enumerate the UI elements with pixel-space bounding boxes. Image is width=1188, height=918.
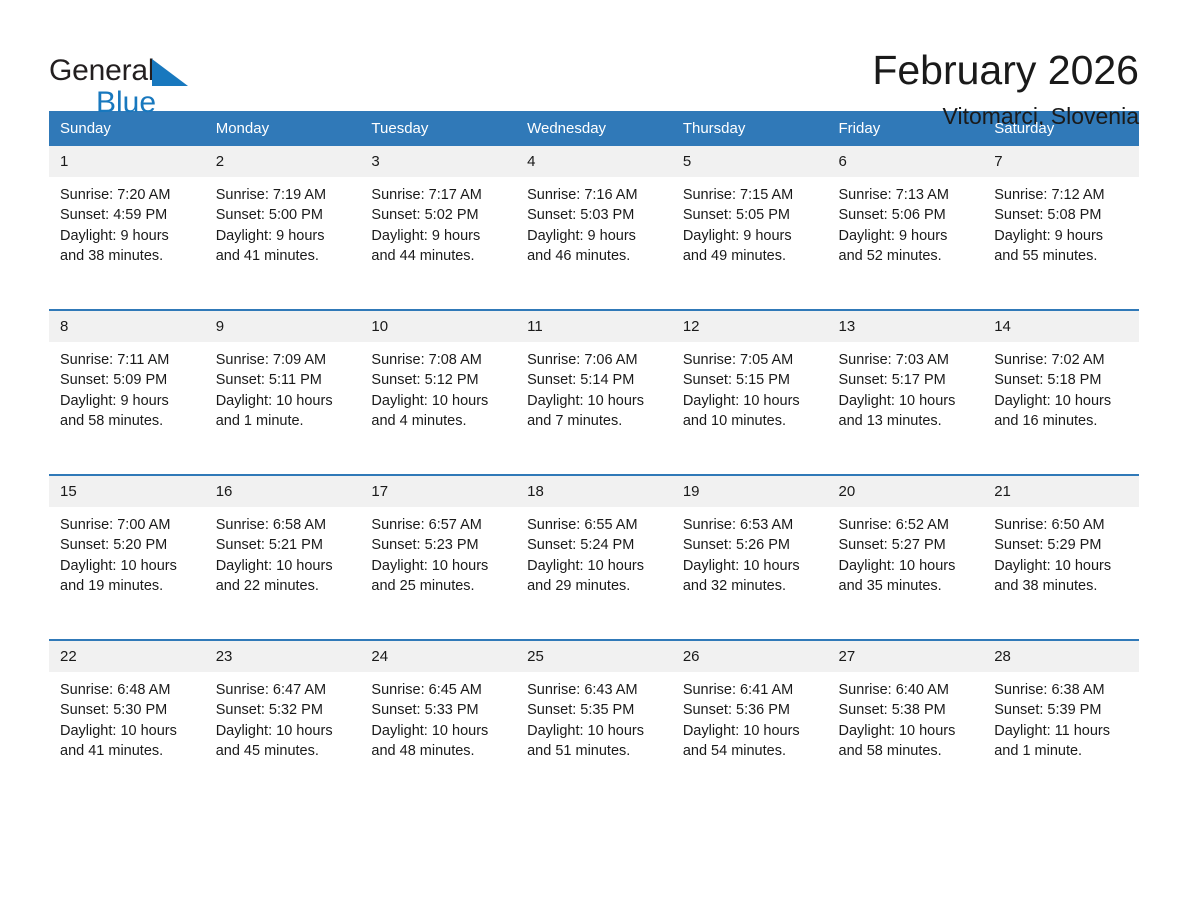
daylight-text-line1: Daylight: 10 hours: [371, 721, 508, 741]
day-details: Sunrise: 6:52 AM Sunset: 5:27 PM Dayligh…: [828, 507, 984, 596]
daylight-text-line2: and 29 minutes.: [527, 576, 664, 596]
day-number: 26: [672, 641, 828, 672]
title-block: February 2026 Vitomarci, Slovenia: [872, 47, 1139, 130]
sunrise-text: Sunrise: 6:45 AM: [371, 680, 508, 700]
sunrise-text: Sunrise: 7:03 AM: [839, 350, 976, 370]
daylight-text-line1: Daylight: 10 hours: [683, 556, 820, 576]
day-cell[interactable]: 11 Sunrise: 7:06 AM Sunset: 5:14 PM Dayl…: [516, 310, 672, 475]
day-details: Sunrise: 6:53 AM Sunset: 5:26 PM Dayligh…: [672, 507, 828, 596]
daylight-text-line1: Daylight: 10 hours: [839, 721, 976, 741]
day-cell[interactable]: 2 Sunrise: 7:19 AM Sunset: 5:00 PM Dayli…: [205, 146, 361, 310]
daylight-text-line2: and 58 minutes.: [60, 411, 197, 431]
daylight-text-line2: and 7 minutes.: [527, 411, 664, 431]
day-number: 28: [983, 641, 1139, 672]
page-title: February 2026: [872, 47, 1139, 93]
day-cell[interactable]: 8 Sunrise: 7:11 AM Sunset: 5:09 PM Dayli…: [49, 310, 205, 475]
calendar-body: 1 Sunrise: 7:20 AM Sunset: 4:59 PM Dayli…: [49, 146, 1139, 804]
daylight-text-line1: Daylight: 9 hours: [839, 226, 976, 246]
sunrise-text: Sunrise: 7:05 AM: [683, 350, 820, 370]
day-cell[interactable]: 17 Sunrise: 6:57 AM Sunset: 5:23 PM Dayl…: [360, 475, 516, 640]
sunrise-text: Sunrise: 6:47 AM: [216, 680, 353, 700]
day-details: Sunrise: 6:45 AM Sunset: 5:33 PM Dayligh…: [360, 672, 516, 761]
day-number: 13: [828, 311, 984, 342]
daylight-text-line1: Daylight: 9 hours: [683, 226, 820, 246]
day-details: Sunrise: 7:08 AM Sunset: 5:12 PM Dayligh…: [360, 342, 516, 431]
daylight-text-line1: Daylight: 10 hours: [527, 391, 664, 411]
daylight-text-line1: Daylight: 10 hours: [216, 556, 353, 576]
sunrise-text: Sunrise: 6:52 AM: [839, 515, 976, 535]
day-number: 4: [516, 146, 672, 177]
sunset-text: Sunset: 5:20 PM: [60, 535, 197, 555]
sunset-text: Sunset: 5:06 PM: [839, 205, 976, 225]
sunset-text: Sunset: 5:32 PM: [216, 700, 353, 720]
sunset-text: Sunset: 5:00 PM: [216, 205, 353, 225]
sunrise-text: Sunrise: 6:57 AM: [371, 515, 508, 535]
sunset-text: Sunset: 5:27 PM: [839, 535, 976, 555]
day-cell[interactable]: 27 Sunrise: 6:40 AM Sunset: 5:38 PM Dayl…: [828, 640, 984, 804]
day-number: 24: [360, 641, 516, 672]
sunset-text: Sunset: 5:15 PM: [683, 370, 820, 390]
day-number: 2: [205, 146, 361, 177]
day-number: 9: [205, 311, 361, 342]
daylight-text-line1: Daylight: 10 hours: [994, 556, 1131, 576]
sunrise-text: Sunrise: 7:11 AM: [60, 350, 197, 370]
sunrise-text: Sunrise: 7:00 AM: [60, 515, 197, 535]
sunset-text: Sunset: 5:23 PM: [371, 535, 508, 555]
daylight-text-line2: and 25 minutes.: [371, 576, 508, 596]
daylight-text-line2: and 38 minutes.: [60, 246, 197, 266]
day-details: Sunrise: 6:38 AM Sunset: 5:39 PM Dayligh…: [983, 672, 1139, 761]
daylight-text-line2: and 55 minutes.: [994, 246, 1131, 266]
day-cell[interactable]: 24 Sunrise: 6:45 AM Sunset: 5:33 PM Dayl…: [360, 640, 516, 804]
day-number: 23: [205, 641, 361, 672]
daylight-text-line1: Daylight: 9 hours: [527, 226, 664, 246]
daylight-text-line2: and 51 minutes.: [527, 741, 664, 761]
calendar-week-row: 8 Sunrise: 7:11 AM Sunset: 5:09 PM Dayli…: [49, 310, 1139, 475]
daylight-text-line1: Daylight: 10 hours: [683, 391, 820, 411]
day-number: 10: [360, 311, 516, 342]
day-cell[interactable]: 12 Sunrise: 7:05 AM Sunset: 5:15 PM Dayl…: [672, 310, 828, 475]
sunrise-text: Sunrise: 6:55 AM: [527, 515, 664, 535]
sunset-text: Sunset: 5:12 PM: [371, 370, 508, 390]
day-cell[interactable]: 20 Sunrise: 6:52 AM Sunset: 5:27 PM Dayl…: [828, 475, 984, 640]
daylight-text-line2: and 45 minutes.: [216, 741, 353, 761]
day-details: Sunrise: 6:58 AM Sunset: 5:21 PM Dayligh…: [205, 507, 361, 596]
day-details: Sunrise: 6:55 AM Sunset: 5:24 PM Dayligh…: [516, 507, 672, 596]
day-number: 15: [49, 476, 205, 507]
day-number: 25: [516, 641, 672, 672]
sunset-text: Sunset: 5:05 PM: [683, 205, 820, 225]
sunset-text: Sunset: 4:59 PM: [60, 205, 197, 225]
day-cell[interactable]: 22 Sunrise: 6:48 AM Sunset: 5:30 PM Dayl…: [49, 640, 205, 804]
day-cell[interactable]: 4 Sunrise: 7:16 AM Sunset: 5:03 PM Dayli…: [516, 146, 672, 310]
daylight-text-line2: and 58 minutes.: [839, 741, 976, 761]
sunrise-text: Sunrise: 7:16 AM: [527, 185, 664, 205]
day-number: 17: [360, 476, 516, 507]
day-details: Sunrise: 7:20 AM Sunset: 4:59 PM Dayligh…: [49, 177, 205, 266]
day-cell[interactable]: 13 Sunrise: 7:03 AM Sunset: 5:17 PM Dayl…: [828, 310, 984, 475]
sunset-text: Sunset: 5:30 PM: [60, 700, 197, 720]
weekday-header-tuesday: Tuesday: [360, 111, 516, 146]
sunrise-text: Sunrise: 7:02 AM: [994, 350, 1131, 370]
day-details: Sunrise: 7:03 AM Sunset: 5:17 PM Dayligh…: [828, 342, 984, 431]
sunset-text: Sunset: 5:14 PM: [527, 370, 664, 390]
daylight-text-line1: Daylight: 10 hours: [527, 721, 664, 741]
daylight-text-line1: Daylight: 10 hours: [839, 391, 976, 411]
daylight-text-line2: and 1 minute.: [994, 741, 1131, 761]
daylight-text-line2: and 54 minutes.: [683, 741, 820, 761]
generalblue-logo[interactable]: General Blue: [49, 47, 209, 118]
daylight-text-line2: and 52 minutes.: [839, 246, 976, 266]
day-number: 3: [360, 146, 516, 177]
daylight-text-line2: and 32 minutes.: [683, 576, 820, 596]
day-cell[interactable]: 16 Sunrise: 6:58 AM Sunset: 5:21 PM Dayl…: [205, 475, 361, 640]
day-number: 18: [516, 476, 672, 507]
sunset-text: Sunset: 5:03 PM: [527, 205, 664, 225]
calendar-week-row: 15 Sunrise: 7:00 AM Sunset: 5:20 PM Dayl…: [49, 475, 1139, 640]
day-details: Sunrise: 6:50 AM Sunset: 5:29 PM Dayligh…: [983, 507, 1139, 596]
day-number: 12: [672, 311, 828, 342]
day-details: Sunrise: 7:16 AM Sunset: 5:03 PM Dayligh…: [516, 177, 672, 266]
sunset-text: Sunset: 5:11 PM: [216, 370, 353, 390]
day-cell[interactable]: 19 Sunrise: 6:53 AM Sunset: 5:26 PM Dayl…: [672, 475, 828, 640]
daylight-text-line1: Daylight: 11 hours: [994, 721, 1131, 741]
daylight-text-line2: and 41 minutes.: [60, 741, 197, 761]
day-details: Sunrise: 7:13 AM Sunset: 5:06 PM Dayligh…: [828, 177, 984, 266]
day-number: 8: [49, 311, 205, 342]
day-cell[interactable]: 26 Sunrise: 6:41 AM Sunset: 5:36 PM Dayl…: [672, 640, 828, 804]
sunrise-text: Sunrise: 6:48 AM: [60, 680, 197, 700]
day-details: Sunrise: 7:09 AM Sunset: 5:11 PM Dayligh…: [205, 342, 361, 431]
sunrise-text: Sunrise: 6:41 AM: [683, 680, 820, 700]
day-cell[interactable]: 15 Sunrise: 7:00 AM Sunset: 5:20 PM Dayl…: [49, 475, 205, 640]
sunrise-text: Sunrise: 7:06 AM: [527, 350, 664, 370]
daylight-text-line2: and 48 minutes.: [371, 741, 508, 761]
day-cell[interactable]: 28 Sunrise: 6:38 AM Sunset: 5:39 PM Dayl…: [983, 640, 1139, 804]
day-number: 22: [49, 641, 205, 672]
calendar-page: General Blue February 2026 Vitomarci, Sl…: [0, 0, 1188, 918]
day-number: 27: [828, 641, 984, 672]
sunrise-text: Sunrise: 7:09 AM: [216, 350, 353, 370]
daylight-text-line2: and 19 minutes.: [60, 576, 197, 596]
day-details: Sunrise: 6:48 AM Sunset: 5:30 PM Dayligh…: [49, 672, 205, 761]
day-cell[interactable]: 23 Sunrise: 6:47 AM Sunset: 5:32 PM Dayl…: [205, 640, 361, 804]
sunrise-text: Sunrise: 7:20 AM: [60, 185, 197, 205]
daylight-text-line2: and 41 minutes.: [216, 246, 353, 266]
day-details: Sunrise: 7:15 AM Sunset: 5:05 PM Dayligh…: [672, 177, 828, 266]
day-cell[interactable]: 6 Sunrise: 7:13 AM Sunset: 5:06 PM Dayli…: [828, 146, 984, 310]
day-details: Sunrise: 7:02 AM Sunset: 5:18 PM Dayligh…: [983, 342, 1139, 431]
sunrise-text: Sunrise: 7:12 AM: [994, 185, 1131, 205]
daylight-text-line2: and 16 minutes.: [994, 411, 1131, 431]
calendar-week-row: 22 Sunrise: 6:48 AM Sunset: 5:30 PM Dayl…: [49, 640, 1139, 804]
daylight-text-line2: and 49 minutes.: [683, 246, 820, 266]
day-number: 19: [672, 476, 828, 507]
logo-triangle-icon: [152, 59, 188, 86]
day-details: Sunrise: 6:41 AM Sunset: 5:36 PM Dayligh…: [672, 672, 828, 761]
day-details: Sunrise: 6:57 AM Sunset: 5:23 PM Dayligh…: [360, 507, 516, 596]
day-cell[interactable]: 18 Sunrise: 6:55 AM Sunset: 5:24 PM Dayl…: [516, 475, 672, 640]
sunset-text: Sunset: 5:17 PM: [839, 370, 976, 390]
day-cell[interactable]: 5 Sunrise: 7:15 AM Sunset: 5:05 PM Dayli…: [672, 146, 828, 310]
sunset-text: Sunset: 5:08 PM: [994, 205, 1131, 225]
weekday-header-monday: Monday: [205, 111, 361, 146]
sunset-text: Sunset: 5:26 PM: [683, 535, 820, 555]
day-cell[interactable]: 7 Sunrise: 7:12 AM Sunset: 5:08 PM Dayli…: [983, 146, 1139, 310]
sunrise-text: Sunrise: 6:40 AM: [839, 680, 976, 700]
daylight-text-line1: Daylight: 10 hours: [994, 391, 1131, 411]
day-cell[interactable]: 3 Sunrise: 7:17 AM Sunset: 5:02 PM Dayli…: [360, 146, 516, 310]
daylight-text-line1: Daylight: 10 hours: [216, 721, 353, 741]
daylight-text-line2: and 22 minutes.: [216, 576, 353, 596]
daylight-text-line1: Daylight: 9 hours: [216, 226, 353, 246]
sunset-text: Sunset: 5:35 PM: [527, 700, 664, 720]
daylight-text-line1: Daylight: 9 hours: [994, 226, 1131, 246]
day-details: Sunrise: 7:17 AM Sunset: 5:02 PM Dayligh…: [360, 177, 516, 266]
day-details: Sunrise: 6:43 AM Sunset: 5:35 PM Dayligh…: [516, 672, 672, 761]
daylight-text-line2: and 46 minutes.: [527, 246, 664, 266]
day-cell[interactable]: 9 Sunrise: 7:09 AM Sunset: 5:11 PM Dayli…: [205, 310, 361, 475]
daylight-text-line2: and 44 minutes.: [371, 246, 508, 266]
sunset-text: Sunset: 5:38 PM: [839, 700, 976, 720]
daylight-text-line1: Daylight: 10 hours: [839, 556, 976, 576]
sunset-text: Sunset: 5:24 PM: [527, 535, 664, 555]
daylight-text-line1: Daylight: 10 hours: [683, 721, 820, 741]
sunrise-text: Sunrise: 7:08 AM: [371, 350, 508, 370]
weekday-header-wednesday: Wednesday: [516, 111, 672, 146]
weekday-header-thursday: Thursday: [672, 111, 828, 146]
page-masthead: General Blue February 2026 Vitomarci, Sl…: [49, 0, 1139, 105]
sunrise-text: Sunrise: 6:43 AM: [527, 680, 664, 700]
sunrise-text: Sunrise: 6:50 AM: [994, 515, 1131, 535]
daylight-text-line1: Daylight: 10 hours: [371, 391, 508, 411]
daylight-text-line2: and 35 minutes.: [839, 576, 976, 596]
day-number: 20: [828, 476, 984, 507]
sunset-text: Sunset: 5:09 PM: [60, 370, 197, 390]
day-number: 16: [205, 476, 361, 507]
sunset-text: Sunset: 5:36 PM: [683, 700, 820, 720]
sunrise-text: Sunrise: 7:15 AM: [683, 185, 820, 205]
day-number: 7: [983, 146, 1139, 177]
daylight-text-line2: and 4 minutes.: [371, 411, 508, 431]
sunset-text: Sunset: 5:33 PM: [371, 700, 508, 720]
day-number: 14: [983, 311, 1139, 342]
day-cell[interactable]: 25 Sunrise: 6:43 AM Sunset: 5:35 PM Dayl…: [516, 640, 672, 804]
day-cell[interactable]: 10 Sunrise: 7:08 AM Sunset: 5:12 PM Dayl…: [360, 310, 516, 475]
daylight-text-line1: Daylight: 10 hours: [216, 391, 353, 411]
day-cell[interactable]: 14 Sunrise: 7:02 AM Sunset: 5:18 PM Dayl…: [983, 310, 1139, 475]
daylight-text-line1: Daylight: 9 hours: [60, 391, 197, 411]
daylight-text-line1: Daylight: 10 hours: [371, 556, 508, 576]
day-details: Sunrise: 7:06 AM Sunset: 5:14 PM Dayligh…: [516, 342, 672, 431]
daylight-text-line2: and 10 minutes.: [683, 411, 820, 431]
sunrise-text: Sunrise: 6:38 AM: [994, 680, 1131, 700]
day-cell[interactable]: 1 Sunrise: 7:20 AM Sunset: 4:59 PM Dayli…: [49, 146, 205, 310]
sunrise-text: Sunrise: 6:53 AM: [683, 515, 820, 535]
daylight-text-line2: and 1 minute.: [216, 411, 353, 431]
sunrise-text: Sunrise: 7:19 AM: [216, 185, 353, 205]
day-details: Sunrise: 7:00 AM Sunset: 5:20 PM Dayligh…: [49, 507, 205, 596]
sunset-text: Sunset: 5:39 PM: [994, 700, 1131, 720]
daylight-text-line1: Daylight: 10 hours: [60, 721, 197, 741]
sunset-text: Sunset: 5:02 PM: [371, 205, 508, 225]
day-details: Sunrise: 7:05 AM Sunset: 5:15 PM Dayligh…: [672, 342, 828, 431]
sunset-text: Sunset: 5:21 PM: [216, 535, 353, 555]
daylight-text-line1: Daylight: 9 hours: [371, 226, 508, 246]
day-details: Sunrise: 7:11 AM Sunset: 5:09 PM Dayligh…: [49, 342, 205, 431]
daylight-text-line1: Daylight: 9 hours: [60, 226, 197, 246]
day-cell[interactable]: 21 Sunrise: 6:50 AM Sunset: 5:29 PM Dayl…: [983, 475, 1139, 640]
calendar-week-row: 1 Sunrise: 7:20 AM Sunset: 4:59 PM Dayli…: [49, 146, 1139, 310]
daylight-text-line2: and 13 minutes.: [839, 411, 976, 431]
daylight-text-line1: Daylight: 10 hours: [527, 556, 664, 576]
sunrise-text: Sunrise: 7:13 AM: [839, 185, 976, 205]
sunset-text: Sunset: 5:18 PM: [994, 370, 1131, 390]
daylight-text-line1: Daylight: 10 hours: [60, 556, 197, 576]
day-number: 6: [828, 146, 984, 177]
daylight-text-line2: and 38 minutes.: [994, 576, 1131, 596]
sunrise-text: Sunrise: 6:58 AM: [216, 515, 353, 535]
sunrise-sunset-calendar: Sunday Monday Tuesday Wednesday Thursday…: [49, 111, 1139, 804]
day-number: 5: [672, 146, 828, 177]
day-details: Sunrise: 6:47 AM Sunset: 5:32 PM Dayligh…: [205, 672, 361, 761]
day-number: 11: [516, 311, 672, 342]
day-number: 21: [983, 476, 1139, 507]
logo-text-blue: Blue: [96, 88, 209, 118]
sunrise-text: Sunrise: 7:17 AM: [371, 185, 508, 205]
day-details: Sunrise: 7:19 AM Sunset: 5:00 PM Dayligh…: [205, 177, 361, 266]
sunset-text: Sunset: 5:29 PM: [994, 535, 1131, 555]
day-number: 1: [49, 146, 205, 177]
day-details: Sunrise: 6:40 AM Sunset: 5:38 PM Dayligh…: [828, 672, 984, 761]
day-details: Sunrise: 7:12 AM Sunset: 5:08 PM Dayligh…: [983, 177, 1139, 266]
